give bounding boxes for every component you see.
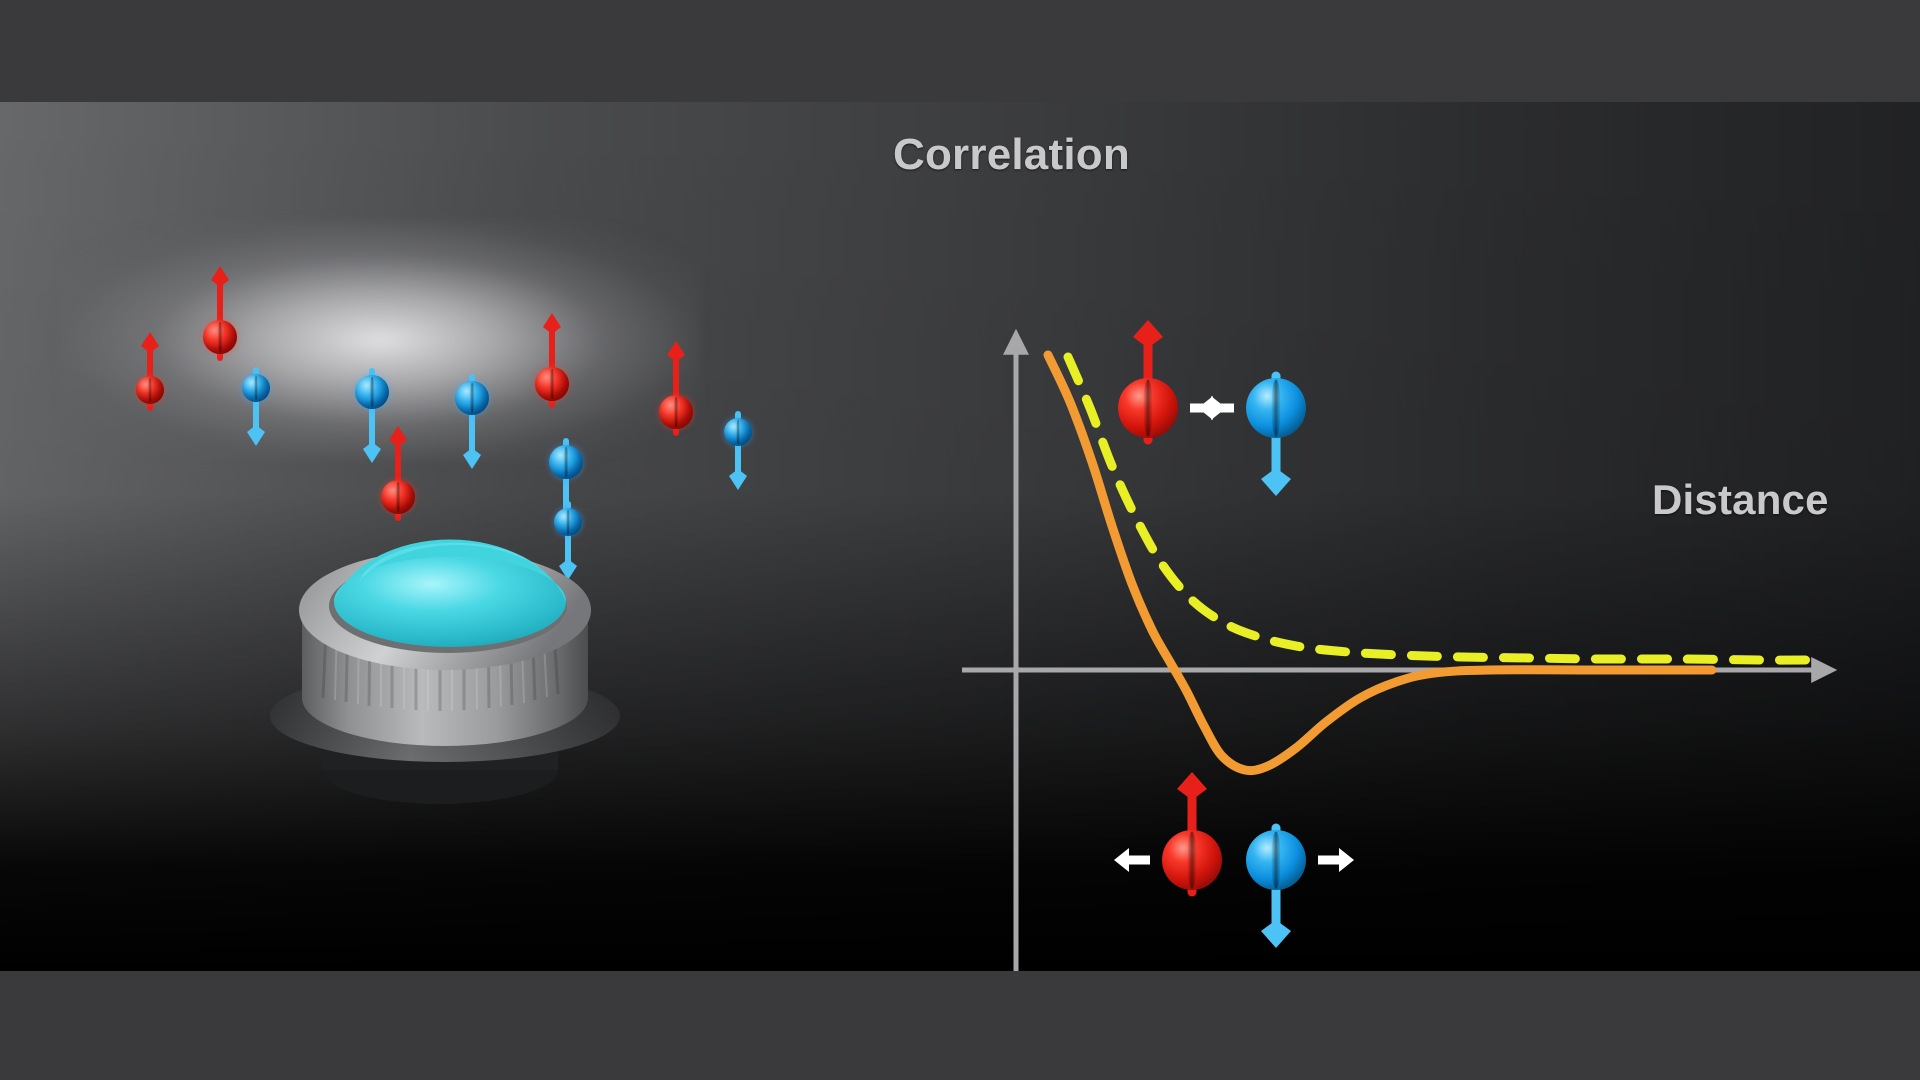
annotation-spin-down [1246, 828, 1306, 948]
x-axis-label: Distance [1652, 476, 1829, 524]
illustration-scene: Correlation Distance [0, 102, 1920, 971]
annotation-spin-up [1162, 772, 1222, 892]
interaction-arrow-icon [1318, 848, 1354, 872]
correlation-graph [0, 102, 1920, 971]
letterbox-bar-top [0, 0, 1920, 102]
letterbox-bar-bottom [0, 971, 1920, 1080]
annotation-repulsive-pair [1114, 772, 1354, 948]
annotation-spin-up [1118, 320, 1178, 440]
annotation-attractive-pair [1118, 320, 1306, 496]
interaction-arrow-icon [1198, 396, 1234, 420]
interaction-arrow-icon [1114, 848, 1150, 872]
figure-root: Correlation Distance [0, 0, 1920, 1080]
y-axis-label: Correlation [893, 130, 1130, 180]
annotation-spin-down [1246, 376, 1306, 496]
graph-axes [962, 334, 1832, 971]
